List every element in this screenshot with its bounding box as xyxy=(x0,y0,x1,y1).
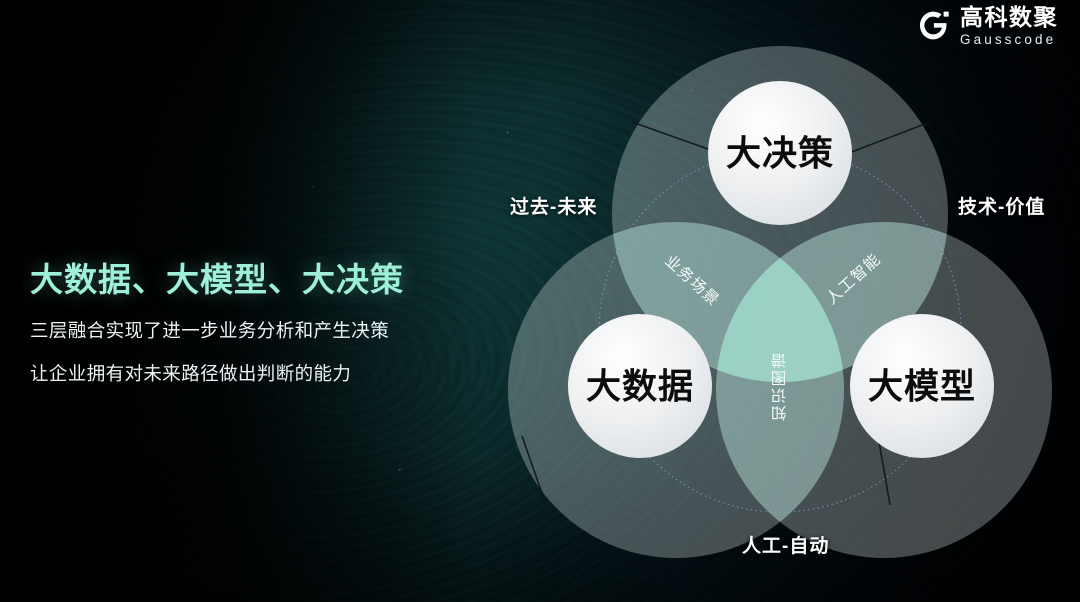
slide-canvas: 高科数聚 Gausscode 大数据、大模型、大决策 三层融合实现了进一步业务分… xyxy=(0,0,1080,602)
venn-diagram: 大决策 大数据 大模型 业务场景 人工智能 知识图谱 xyxy=(498,18,1062,582)
axis-caption-bottom: 人工-自动 xyxy=(742,531,829,558)
intersection-label-knowledge-graph: 知识图谱 xyxy=(771,351,789,421)
axis-caption-right: 技术-价值 xyxy=(958,192,1045,219)
core-label-bigmodel: 大模型 xyxy=(868,368,976,407)
subline-1: 三层融合实现了进一步业务分析和产生决策 xyxy=(30,317,460,343)
headline: 大数据、大模型、大决策 xyxy=(30,253,460,301)
axis-caption-left: 过去-未来 xyxy=(510,192,597,219)
copy-block: 大数据、大模型、大决策 三层融合实现了进一步业务分析和产生决策 让企业拥有对未来… xyxy=(30,253,460,386)
subline-2: 让企业拥有对未来路径做出判断的能力 xyxy=(30,360,460,386)
core-label-bigdata: 大数据 xyxy=(586,368,694,407)
core-label-decision: 大决策 xyxy=(726,135,834,174)
